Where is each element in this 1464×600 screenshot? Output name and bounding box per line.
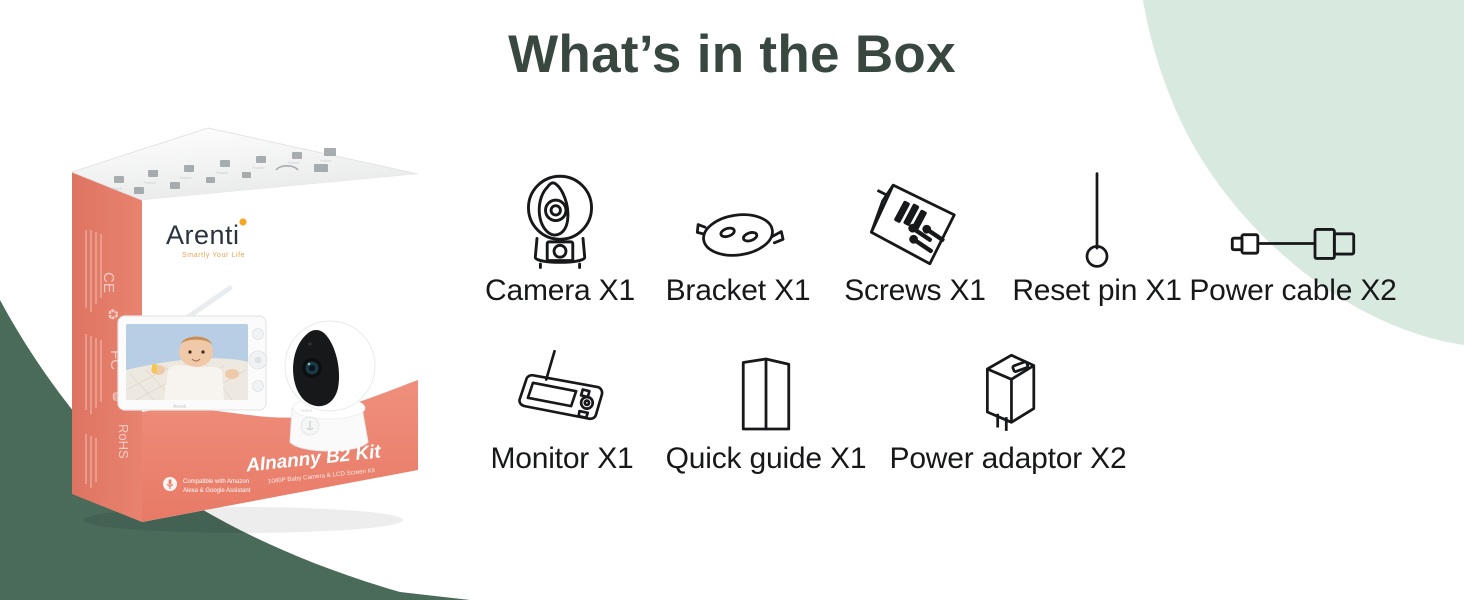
svg-text:RoHS: RoHS bbox=[116, 424, 131, 459]
infographic-canvas: What’s in the Box bbox=[0, 0, 1464, 600]
box-contents-list: Camera X1 Bracket X1 bbox=[470, 170, 1450, 500]
svg-text:Arenti: Arenti bbox=[173, 404, 186, 410]
content-item-label: Power adaptor X2 bbox=[890, 442, 1127, 476]
page-title: What’s in the Box bbox=[0, 24, 1464, 85]
content-item-power-adaptor: Power adaptor X2 bbox=[878, 338, 1138, 476]
svg-text:Feature: Feature bbox=[252, 166, 264, 170]
content-item-reset-pin: Reset pin X1 bbox=[1004, 170, 1190, 308]
power-cable-icon bbox=[1227, 170, 1359, 270]
content-item-label: Monitor X1 bbox=[490, 442, 633, 476]
bracket-icon bbox=[686, 170, 790, 270]
box-monitor-render: Arenti bbox=[118, 316, 267, 410]
svg-text:Arenti: Arenti bbox=[166, 220, 240, 250]
contents-row-2: Monitor X1 Quick guide X1 bbox=[470, 338, 1450, 476]
content-item-label: Power cable X2 bbox=[1189, 274, 1396, 308]
content-item-label: Bracket X1 bbox=[666, 274, 811, 308]
svg-text:Arenti: Arenti bbox=[300, 408, 312, 413]
content-item-bracket: Bracket X1 bbox=[650, 170, 826, 308]
svg-text:Feature: Feature bbox=[288, 161, 300, 165]
screws-bag-icon bbox=[867, 170, 963, 270]
content-item-label: Reset pin X1 bbox=[1012, 274, 1181, 308]
reset-pin-icon bbox=[1077, 170, 1117, 270]
monitor-icon bbox=[508, 338, 616, 438]
svg-text:Alexa & Google Assistant: Alexa & Google Assistant bbox=[183, 488, 251, 494]
content-item-label: Quick guide X1 bbox=[666, 442, 867, 476]
quick-guide-icon bbox=[731, 338, 801, 438]
content-item-camera: Camera X1 bbox=[470, 170, 650, 308]
svg-text:CE: CE bbox=[100, 272, 117, 293]
svg-text:Smartly Your Life: Smartly Your Life bbox=[182, 252, 245, 259]
svg-text:Compatible with Amazon: Compatible with Amazon bbox=[183, 479, 249, 485]
camera-icon bbox=[513, 170, 607, 270]
product-box-image: CE ♻ FC 🗑 RoHS bbox=[18, 112, 448, 542]
svg-text:Feature: Feature bbox=[180, 176, 192, 180]
contents-row-1: Camera X1 Bracket X1 bbox=[470, 170, 1450, 308]
box-camera-render: Arenti bbox=[285, 321, 375, 451]
content-item-label: Camera X1 bbox=[485, 274, 635, 308]
svg-text:Feature: Feature bbox=[216, 171, 228, 175]
content-item-monitor: Monitor X1 bbox=[470, 338, 654, 476]
svg-text:Feature: Feature bbox=[110, 187, 122, 191]
svg-text:Feature: Feature bbox=[144, 181, 156, 185]
content-item-power-cable: Power cable X2 bbox=[1190, 170, 1396, 308]
svg-text:♻: ♻ bbox=[105, 308, 121, 321]
svg-text:Feature: Feature bbox=[320, 159, 332, 163]
content-item-label: Screws X1 bbox=[844, 274, 986, 308]
power-adaptor-icon bbox=[965, 338, 1051, 438]
content-item-screws: Screws X1 bbox=[826, 170, 1004, 308]
box-front-face: Arenti Smartly Your Life bbox=[118, 174, 418, 522]
content-item-quick-guide: Quick guide X1 bbox=[654, 338, 878, 476]
